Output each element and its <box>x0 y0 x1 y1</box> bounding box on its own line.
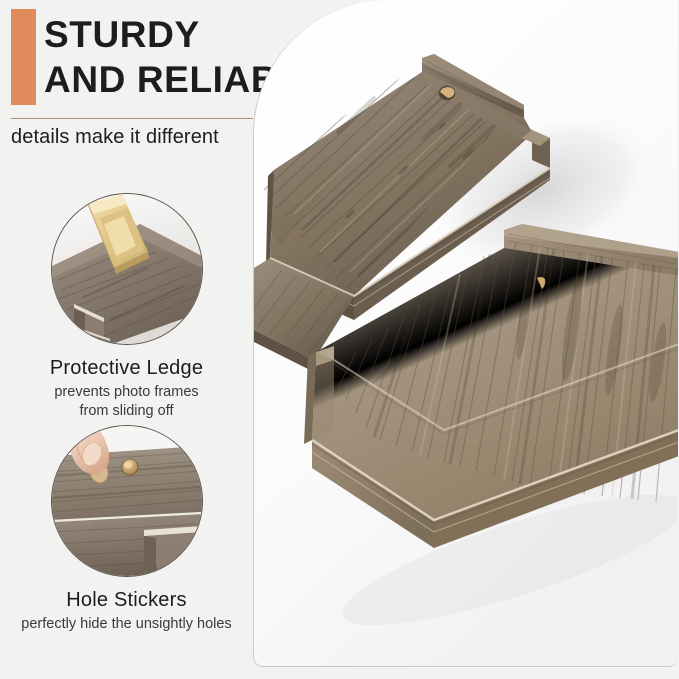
feature-subtitle-line-1: perfectly hide the unsightly holes <box>21 616 231 632</box>
left-content-column: STURDY AND RELIABLE details make it diff… <box>0 0 253 679</box>
product-infographic: STURDY AND RELIABLE details make it diff… <box>0 0 679 679</box>
protective-ledge-photo <box>51 193 203 345</box>
title-divider <box>11 118 253 119</box>
screw-hole-upper <box>439 86 455 100</box>
hole-stickers-photo <box>51 425 203 577</box>
product-photo-clip <box>254 0 678 666</box>
feature-subtitle-line-2: from sliding off <box>79 403 173 419</box>
feature-subtitle-line-1: prevents photo frames <box>54 384 198 400</box>
orange-accent-bar <box>11 9 36 105</box>
feature-title: Protective Ledge <box>0 356 253 380</box>
feature-subtitle: perfectly hide the unsightly holes <box>0 615 253 634</box>
feature-protective-ledge: Protective Ledge prevents photo frames f… <box>0 193 253 421</box>
subheadline: details make it different <box>11 124 261 150</box>
hole-stickers-illustration <box>52 426 202 576</box>
floating-ledge-shelves-photo <box>254 0 678 666</box>
feature-title: Hole Stickers <box>0 588 253 612</box>
product-photo-panel <box>253 0 678 667</box>
protective-ledge-illustration <box>52 194 202 344</box>
feature-subtitle: prevents photo frames from sliding off <box>0 383 253 421</box>
feature-hole-stickers: Hole Stickers perfectly hide the unsight… <box>0 425 253 634</box>
